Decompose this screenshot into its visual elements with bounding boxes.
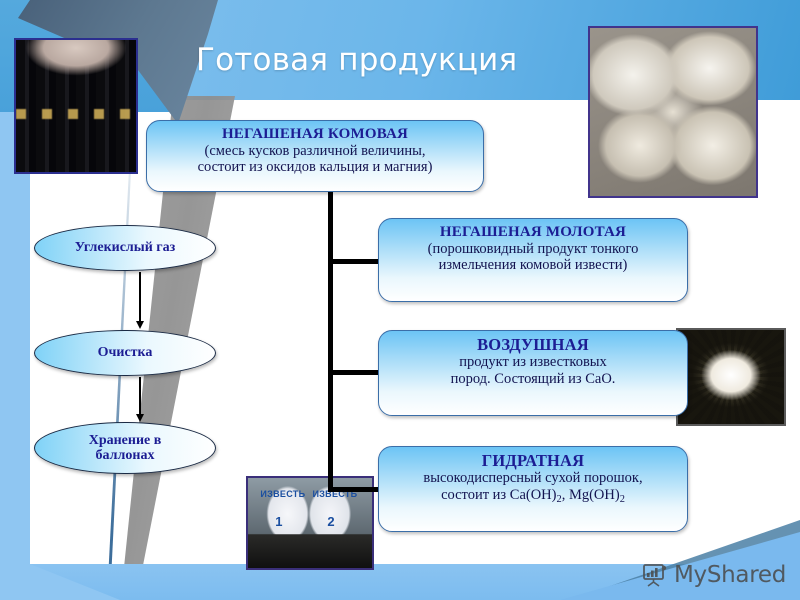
connector-vertical-trunk: [328, 190, 333, 492]
connector-branch-molotaya: [328, 259, 380, 264]
box-vozdushnaya: ВОЗДУШНАЯ продукт из известковых пород. …: [378, 330, 688, 416]
bag-number-left: 1: [275, 514, 282, 529]
page-title: Готовая продукция: [196, 42, 517, 78]
photo-gas-cylinders: [14, 38, 138, 174]
formula-prefix: состоит из Ca(OH): [441, 487, 556, 503]
formula-middle: , Mg(OH): [562, 487, 620, 503]
bag-number-right: 2: [327, 514, 334, 529]
ellipse-storage-line1: Хранение в: [89, 433, 162, 448]
slide-canvas: Готовая продукция ИЗВЕСТЬ ИЗВЕСТЬ 1 2 НЕ…: [0, 0, 800, 600]
box-molotaya-line1: (порошковидный продукт тонкого: [385, 241, 681, 258]
photo-lime-powder: [676, 328, 786, 426]
box-komovaya-line1: (смесь кусков различной величины,: [153, 143, 477, 160]
photo-quicklime-lumps-image: [590, 28, 756, 196]
arrow-gas-to-purification: [139, 272, 141, 322]
ellipse-carbon-dioxide: Углекислый газ: [34, 225, 216, 271]
ellipse-purification: Очистка: [34, 330, 216, 376]
box-molotaya-line2: измельчения комовой извести): [385, 257, 681, 274]
box-negashenaya-molotaya: НЕГАШЕНАЯ МОЛОТАЯ (порошковидный продукт…: [378, 218, 688, 302]
box-vozdushnaya-line2: пород. Состоящий из CaO.: [385, 371, 681, 388]
box-komovaya-title: НЕГАШЕНАЯ КОМОВАЯ: [153, 126, 477, 143]
box-negashenaya-komovaya: НЕГАШЕНАЯ КОМОВАЯ (смесь кусков различно…: [146, 120, 484, 192]
photo-quicklime-lumps: [588, 26, 758, 198]
ellipse-cylinder-storage: Хранение в баллонах: [34, 422, 216, 474]
ellipse-carbon-dioxide-label: Углекислый газ: [75, 240, 176, 255]
box-molotaya-title: НЕГАШЕНАЯ МОЛОТАЯ: [385, 224, 681, 241]
watermark-text: MyShared: [674, 562, 786, 588]
bag-label-left: ИЗВЕСТЬ: [260, 489, 305, 499]
formula-sub-2: 2: [620, 494, 625, 505]
arrow-purification-to-storage: [139, 377, 141, 415]
box-komovaya-line2: состоит из оксидов кальция и магния): [153, 159, 477, 176]
box-gidratnaya-title: ГИДРАТНАЯ: [385, 452, 681, 470]
connector-branch-gidratnaya: [328, 487, 380, 492]
box-gidratnaya-formula: состоит из Ca(OH)2, Mg(OH)2: [385, 487, 681, 506]
watermark: MyShared: [642, 562, 786, 588]
connector-branch-vozdushnaya: [328, 370, 380, 375]
box-vozdushnaya-line1: продукт из известковых: [385, 354, 681, 371]
presentation-chart-icon: [642, 563, 668, 587]
box-gidratnaya-line1: высокодисперсный сухой порошок,: [385, 470, 681, 487]
photo-gas-cylinders-image: [16, 40, 136, 172]
ellipse-cylinder-storage-label: Хранение в баллонах: [89, 433, 162, 464]
box-vozdushnaya-title: ВОЗДУШНАЯ: [385, 336, 681, 354]
ellipse-purification-label: Очистка: [98, 345, 153, 360]
ellipse-storage-line2: баллонах: [96, 448, 155, 463]
box-gidratnaya: ГИДРАТНАЯ высокодисперсный сухой порошок…: [378, 446, 688, 532]
photo-lime-powder-image: [678, 330, 784, 424]
